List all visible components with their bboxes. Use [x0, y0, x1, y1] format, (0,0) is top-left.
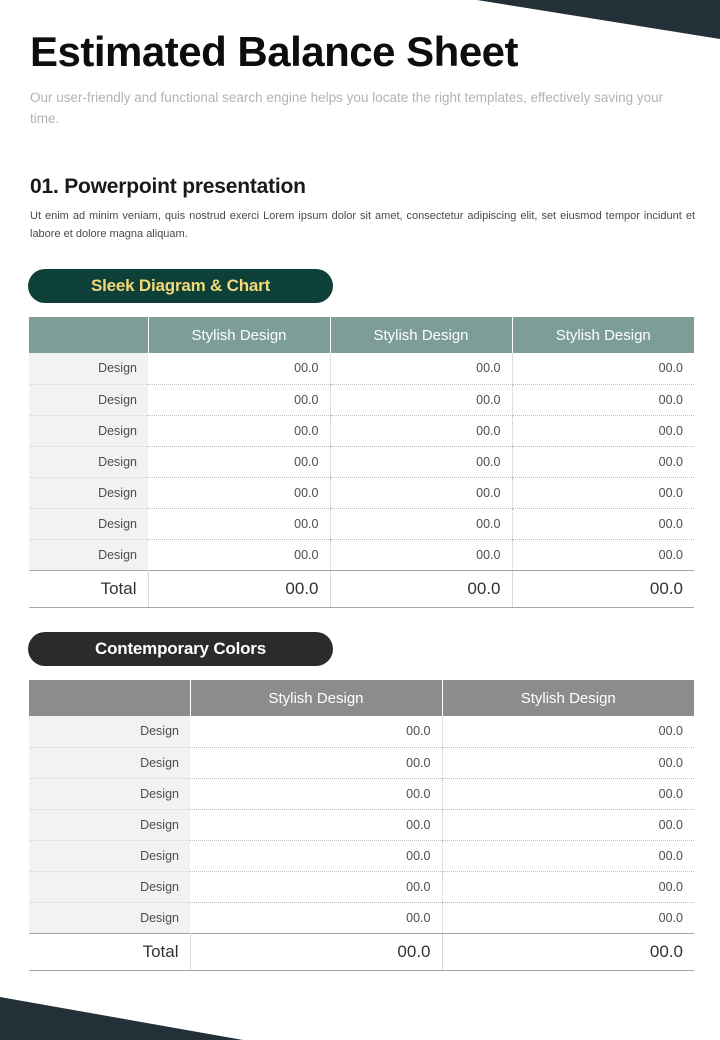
table-row: Design00.000.000.0	[29, 415, 694, 446]
table1-head: Stylish DesignStylish DesignStylish Desi…	[29, 317, 694, 353]
row-value: 00.0	[442, 747, 694, 778]
row-value: 00.0	[148, 508, 330, 539]
table-row: Design00.000.000.0	[29, 508, 694, 539]
table2-column-header: Stylish Design	[442, 680, 694, 716]
table-row: Design00.000.000.0	[29, 384, 694, 415]
row-label: Design	[29, 415, 148, 446]
total-row: Total00.000.000.0	[29, 570, 694, 607]
row-label: Design	[29, 840, 190, 871]
row-value: 00.0	[442, 840, 694, 871]
row-label: Design	[29, 477, 148, 508]
row-label: Design	[29, 902, 190, 933]
table-row: Design00.000.0	[29, 840, 694, 871]
row-value: 00.0	[512, 353, 694, 384]
row-value: 00.0	[148, 477, 330, 508]
bottom-left-triangle-decoration	[0, 997, 243, 1040]
table2-label-column-header	[29, 680, 190, 716]
table-row: Design00.000.000.0	[29, 353, 694, 384]
row-value: 00.0	[330, 477, 512, 508]
badge-contemporary-colors[interactable]: Contemporary Colors	[28, 632, 333, 666]
table-row: Design00.000.000.0	[29, 446, 694, 477]
row-value: 00.0	[512, 446, 694, 477]
row-value: 00.0	[148, 415, 330, 446]
row-value: 00.0	[512, 508, 694, 539]
row-value: 00.0	[190, 778, 442, 809]
row-value: 00.0	[442, 902, 694, 933]
row-value: 00.0	[190, 716, 442, 747]
header: Estimated Balance Sheet Our user-friendl…	[30, 28, 690, 130]
row-value: 00.0	[190, 747, 442, 778]
table1-header-row: Stylish DesignStylish DesignStylish Desi…	[29, 317, 694, 353]
row-label: Design	[29, 778, 190, 809]
row-value: 00.0	[190, 809, 442, 840]
row-label: Design	[29, 716, 190, 747]
total-value: 00.0	[512, 570, 694, 607]
table-row: Design00.000.0	[29, 778, 694, 809]
table-row: Design00.000.0	[29, 747, 694, 778]
row-value: 00.0	[330, 508, 512, 539]
row-label: Design	[29, 871, 190, 902]
row-value: 00.0	[148, 384, 330, 415]
total-label: Total	[29, 933, 190, 970]
row-value: 00.0	[190, 871, 442, 902]
table-row: Design00.000.0	[29, 809, 694, 840]
row-value: 00.0	[148, 353, 330, 384]
row-value: 00.0	[442, 716, 694, 747]
row-value: 00.0	[442, 809, 694, 840]
row-label: Design	[29, 508, 148, 539]
page-subtitle: Our user-friendly and functional search …	[30, 88, 675, 130]
badge-label: Contemporary Colors	[95, 639, 266, 659]
row-value: 00.0	[190, 902, 442, 933]
row-value: 00.0	[330, 353, 512, 384]
row-value: 00.0	[512, 539, 694, 570]
table-contemporary-colors: Stylish DesignStylish Design Design00.00…	[29, 680, 694, 971]
page-title: Estimated Balance Sheet	[30, 28, 690, 75]
row-label: Design	[29, 809, 190, 840]
table1-label-column-header	[29, 317, 148, 353]
table1-column-header: Stylish Design	[148, 317, 330, 353]
row-value: 00.0	[330, 415, 512, 446]
row-value: 00.0	[330, 384, 512, 415]
row-label: Design	[29, 446, 148, 477]
table-row: Design00.000.000.0	[29, 539, 694, 570]
table1-column-header: Stylish Design	[330, 317, 512, 353]
table2-column-header: Stylish Design	[190, 680, 442, 716]
total-label: Total	[29, 570, 148, 607]
row-value: 00.0	[512, 477, 694, 508]
section-header: 01. Powerpoint presentation Ut enim ad m…	[30, 175, 695, 244]
table-row: Design00.000.000.0	[29, 477, 694, 508]
row-value: 00.0	[148, 539, 330, 570]
total-value: 00.0	[148, 570, 330, 607]
table-row: Design00.000.0	[29, 902, 694, 933]
row-value: 00.0	[442, 778, 694, 809]
table-row: Design00.000.0	[29, 871, 694, 902]
table1-column-header: Stylish Design	[512, 317, 694, 353]
row-value: 00.0	[442, 871, 694, 902]
row-value: 00.0	[512, 384, 694, 415]
table-sleek-diagram-chart: Stylish DesignStylish DesignStylish Desi…	[29, 317, 694, 608]
row-value: 00.0	[330, 446, 512, 477]
table1-body: Design00.000.000.0Design00.000.000.0Desi…	[29, 353, 694, 607]
total-value: 00.0	[330, 570, 512, 607]
table2-body: Design00.000.0Design00.000.0Design00.000…	[29, 716, 694, 970]
row-label: Design	[29, 747, 190, 778]
row-value: 00.0	[330, 539, 512, 570]
row-label: Design	[29, 353, 148, 384]
badge-label: Sleek Diagram & Chart	[91, 276, 270, 296]
total-value: 00.0	[190, 933, 442, 970]
slide-page: Estimated Balance Sheet Our user-friendl…	[0, 0, 720, 1040]
total-value: 00.0	[442, 933, 694, 970]
table2-head: Stylish DesignStylish Design	[29, 680, 694, 716]
section-title: 01. Powerpoint presentation	[30, 175, 695, 199]
table-row: Design00.000.0	[29, 716, 694, 747]
row-value: 00.0	[512, 415, 694, 446]
section-body-text: Ut enim ad minim veniam, quis nostrud ex…	[30, 208, 695, 244]
table2-header-row: Stylish DesignStylish Design	[29, 680, 694, 716]
total-row: Total00.000.0	[29, 933, 694, 970]
row-value: 00.0	[190, 840, 442, 871]
badge-sleek-diagram-chart[interactable]: Sleek Diagram & Chart	[28, 269, 333, 303]
row-value: 00.0	[148, 446, 330, 477]
row-label: Design	[29, 384, 148, 415]
row-label: Design	[29, 539, 148, 570]
